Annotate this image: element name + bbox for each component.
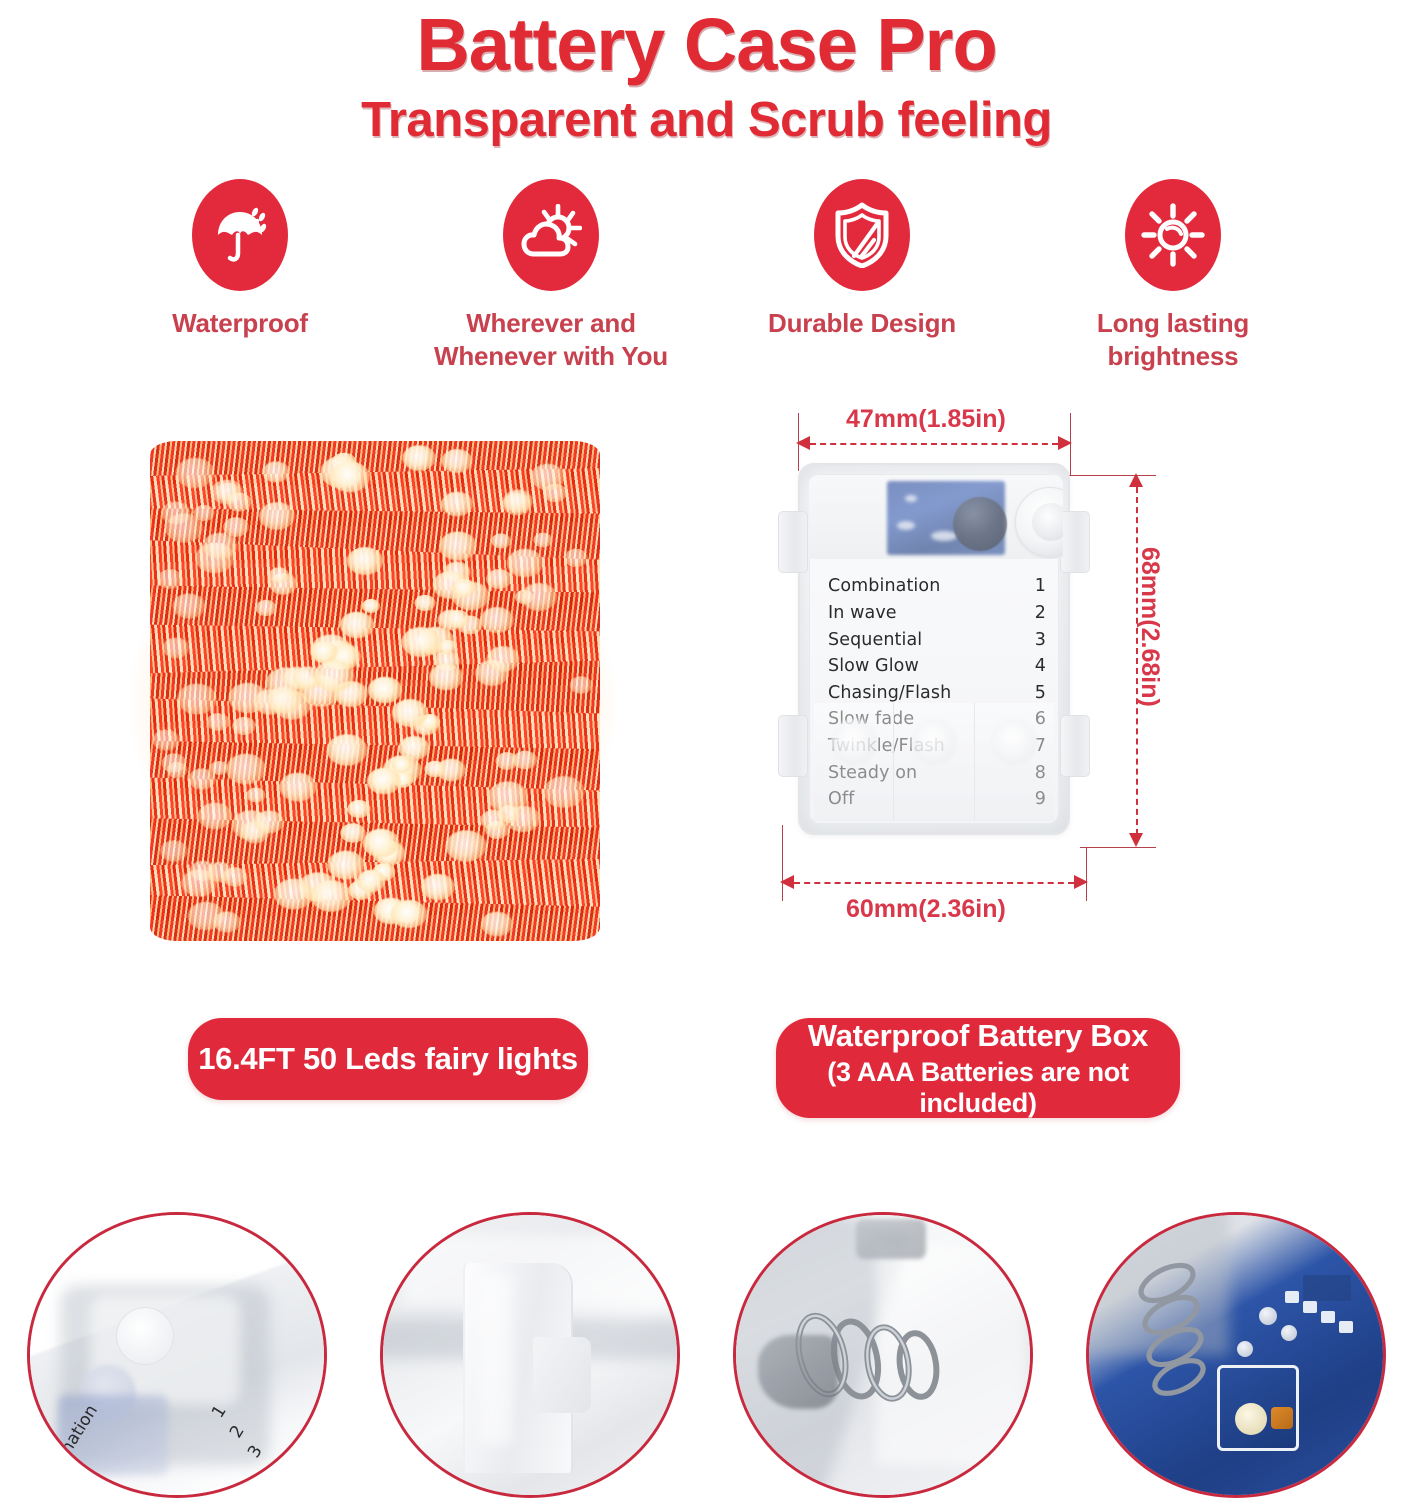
led-bulb (402, 627, 441, 657)
led-bulb (347, 547, 383, 575)
battery-box-body: Combination1In wave2Sequential3Slow Glow… (798, 463, 1070, 835)
mode-number: 2 (1022, 600, 1046, 627)
product-showcase: 47mm(1.85in) 68mm(2.68in) 60mm(2.36in) (0, 395, 1413, 1115)
dim-tick (1086, 847, 1087, 901)
led-bulb (480, 607, 514, 633)
led-bulb (414, 595, 435, 611)
led-bulb (266, 687, 301, 714)
dimension-width-top: 47mm(1.85in) (846, 405, 1006, 434)
thumb-image: ination 1 2 3 (30, 1215, 324, 1495)
shield-icon (814, 179, 910, 291)
led-bulb (421, 874, 455, 900)
mode-name: In wave (828, 600, 897, 627)
feature-anywhere-anytime: Wherever andWhenever with You (406, 179, 696, 374)
wire-coil (150, 441, 600, 941)
led-bulb (441, 492, 473, 517)
led-bulb (486, 569, 512, 589)
dim-arrow (1074, 875, 1088, 889)
dim-arrow (1058, 436, 1072, 450)
thumb-circuit-board-detail[interactable] (1086, 1212, 1386, 1498)
led-bulb (327, 734, 368, 766)
battery-box-diagram: 47mm(1.85in) 68mm(2.68in) 60mm(2.36in) (760, 395, 1230, 995)
led-bulb (203, 533, 238, 560)
led-bulb (521, 583, 557, 611)
mode-row: Combination1 (828, 573, 1046, 600)
led-bulb (226, 754, 266, 785)
led-bulb (259, 502, 295, 530)
umbrella-rain-icon (192, 179, 288, 291)
led-bulb (439, 639, 457, 653)
dim-tick (1080, 847, 1156, 848)
led-bulb (362, 829, 399, 857)
led-bulb (392, 757, 412, 772)
battery-cell (894, 703, 974, 821)
led-bulb (330, 462, 370, 493)
mode-name: Combination (828, 573, 940, 600)
dim-arrow (1129, 833, 1143, 847)
dim-tick (782, 825, 783, 901)
side-latch (778, 715, 808, 777)
power-button[interactable] (1015, 487, 1063, 557)
led-bulb (310, 880, 351, 912)
led-bulb (480, 809, 507, 830)
mode-number: 5 (1022, 680, 1046, 707)
thumb-battery-box-button-detail[interactable]: ination 1 2 3 (27, 1212, 327, 1498)
led-bulb (452, 578, 476, 597)
battery-compartments (814, 703, 1054, 821)
mode-row: Slow Glow4 (828, 653, 1046, 680)
feature-waterproof: Waterproof (95, 179, 385, 374)
mode-name: Sequential (828, 627, 922, 654)
led-bulb (570, 676, 593, 693)
feature-durable-design: Durable Design (717, 179, 1007, 374)
brightness-sun-icon (1125, 179, 1221, 291)
thumb-image (383, 1215, 677, 1495)
side-latch (1060, 511, 1090, 573)
led-bulb (254, 810, 284, 833)
led-bulb (367, 768, 401, 794)
fairy-lights-caption: 16.4FT 50 Leds fairy lights (188, 1018, 588, 1100)
led-bulb (425, 761, 446, 777)
dim-line-width-top (810, 443, 1058, 445)
led-bulb (340, 611, 375, 638)
battery-cell (814, 703, 894, 821)
led-bulb (486, 646, 519, 672)
led-bulb (177, 683, 217, 714)
feature-label: Long lasting brightness (1028, 307, 1318, 374)
led-bulb (274, 878, 314, 909)
thumb-plastic-latch-detail[interactable] (380, 1212, 680, 1498)
dim-arrow (1129, 473, 1143, 487)
led-bulb (506, 549, 543, 577)
led-bulb (491, 533, 511, 548)
feature-long-lasting-brightness: Long lasting brightness (1028, 179, 1318, 374)
led-bulb (402, 445, 435, 471)
header: Battery Case Pro Transparent and Scrub f… (0, 0, 1413, 151)
mode-row: In wave2 (828, 600, 1046, 627)
caption-line-1: Waterproof Battery Box (808, 1018, 1148, 1054)
side-latch (1060, 715, 1090, 777)
mode-number: 3 (1022, 627, 1046, 654)
side-latch (778, 511, 808, 573)
led-bulb (227, 492, 252, 511)
led-bulb (206, 713, 229, 731)
page-subtitle: Transparent and Scrub feeling (0, 90, 1413, 151)
thumb-battery-spring-contact-detail[interactable] (733, 1212, 1033, 1498)
fairy-lights-photo (88, 413, 658, 973)
led-bulb (173, 593, 206, 618)
dim-line-width-bottom (794, 882, 1074, 884)
led-bulb (166, 762, 187, 778)
led-bulb (222, 867, 247, 886)
sun-cloud-icon (503, 179, 599, 291)
dimension-width-bottom: 60mm(2.36in) (846, 895, 1006, 924)
feature-label: Waterproof (95, 307, 385, 340)
dimension-height-right: 68mm(2.68in) (1135, 547, 1164, 707)
led-bulb (246, 788, 266, 803)
battery-cell (975, 703, 1054, 821)
led-bulb (391, 699, 427, 727)
led-bulb (176, 458, 215, 488)
mode-name: Slow Glow (828, 653, 919, 680)
mode-number: 1 (1022, 573, 1046, 600)
thumb-image (1089, 1215, 1383, 1495)
led-bulb (362, 599, 380, 613)
led-bulb (313, 660, 354, 691)
battery-box-top-strip (809, 475, 1063, 559)
led-bulb (440, 531, 478, 560)
caption-line-1: 16.4FT 50 Leds fairy lights (198, 1041, 578, 1077)
led-bulb (164, 513, 202, 542)
mode-name: Chasing/Flash (828, 680, 951, 707)
led-bulb (481, 912, 513, 937)
led-bulb (348, 800, 371, 818)
mode-row: Chasing/Flash5 (828, 680, 1046, 707)
mode-row: Sequential3 (828, 627, 1046, 654)
dim-arrow (796, 436, 810, 450)
thumb-image (736, 1215, 1030, 1495)
mode-number: 4 (1022, 653, 1046, 680)
detail-thumbnail-row: ination 1 2 3 (0, 1212, 1413, 1500)
led-bulb (181, 869, 217, 896)
led-bulb (543, 776, 584, 808)
led-bulb (530, 464, 565, 491)
caption-line-2: (3 AAA Batteries are not included) (776, 1057, 1180, 1119)
feature-label: Durable Design (717, 307, 1007, 340)
feature-label: Wherever andWhenever with You (406, 307, 696, 374)
led-bulb (160, 841, 188, 862)
page-title: Battery Case Pro (0, 6, 1413, 84)
led-bulb (564, 549, 588, 567)
dim-arrow (780, 875, 794, 889)
led-bulb (441, 449, 472, 473)
led-bulb (263, 461, 291, 482)
feature-row: Waterproof Wherever andWhenever with You (0, 151, 1413, 374)
battery-box-caption: Waterproof Battery Box (3 AAA Batteries … (776, 1018, 1180, 1118)
led-bulb (232, 717, 256, 735)
led-bulb (503, 490, 533, 513)
led-bulb (310, 641, 338, 663)
product-infographic: Battery Case Pro Transparent and Scrub f… (0, 0, 1413, 1500)
